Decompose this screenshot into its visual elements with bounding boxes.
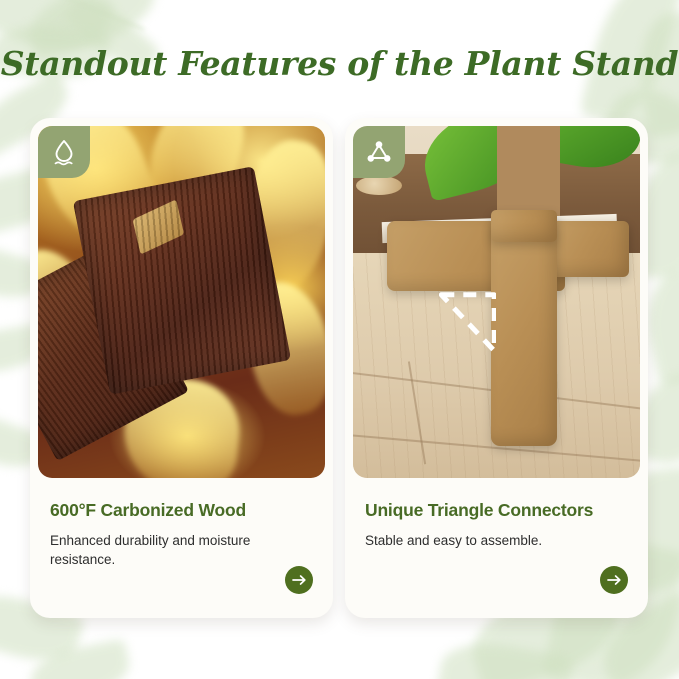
feature-card-triangle-connectors[interactable]: Unique Triangle Connectors Stable and ea… [345,118,648,618]
arrow-right-icon [292,574,307,586]
connector-joint-photo [353,126,640,478]
page-title: Standout Features of the Plant Stand [0,44,679,83]
feature-image-carbonized-wood [38,126,325,478]
feature-description: Stable and easy to assemble. [365,532,595,551]
feature-card-body: Unique Triangle Connectors Stable and ea… [345,478,648,618]
badge-moisture-resistance [38,126,90,178]
feature-card-body: 600°F Carbonized Wood Enhanced durabilit… [30,478,333,618]
leaf-stem-icon [5,0,145,31]
wood-log-main [73,167,291,396]
log-end-grain [356,176,402,195]
feature-card-carbonized-wood[interactable]: 600°F Carbonized Wood Enhanced durabilit… [30,118,333,618]
feature-title: 600°F Carbonized Wood [50,500,313,521]
water-droplet-icon [51,138,77,166]
feature-description: Enhanced durability and moisture resista… [50,532,280,569]
feature-card-list: 600°F Carbonized Wood Enhanced durabilit… [30,118,649,618]
feature-title: Unique Triangle Connectors [365,500,628,521]
infographic-stage: Standout Features of the Plant Stand [0,0,679,679]
arrow-right-icon [607,574,622,586]
leaf-icon [26,638,134,679]
triangle-connector-icon [365,139,393,165]
burning-wood-photo [38,126,325,478]
connector-collar [491,210,557,242]
badge-triangle-connector [353,126,405,178]
feature-image-triangle-connector [353,126,640,478]
connector-vertical-leg [491,221,557,446]
learn-more-arrow-button[interactable] [600,566,628,594]
wood-cut-face [132,199,183,255]
learn-more-arrow-button[interactable] [285,566,313,594]
floor-seam [408,361,426,464]
leaf-icon [436,635,574,679]
